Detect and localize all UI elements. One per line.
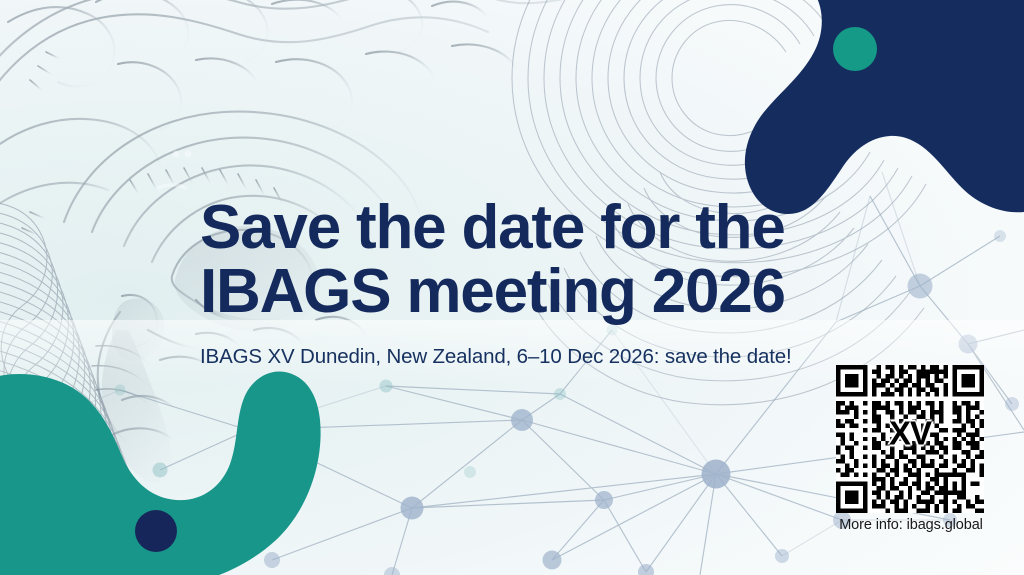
qr-block[interactable]: XV More info: ibags.global bbox=[836, 365, 986, 533]
qr-code-icon[interactable] bbox=[836, 365, 984, 513]
qr-caption: More info: ibags.global bbox=[836, 517, 986, 533]
event-subtitle: IBAGS XV Dunedin, New Zealand, 6–10 Dec … bbox=[200, 345, 860, 369]
save-the-date-banner: Save the date for the IBAGS meeting 2026… bbox=[0, 0, 1024, 575]
qr-wrap[interactable]: XV bbox=[836, 365, 984, 513]
text-block: Save the date for the IBAGS meeting 2026… bbox=[200, 196, 860, 369]
page-title: Save the date for the IBAGS meeting 2026 bbox=[200, 196, 860, 325]
navy-circle bbox=[135, 510, 177, 552]
